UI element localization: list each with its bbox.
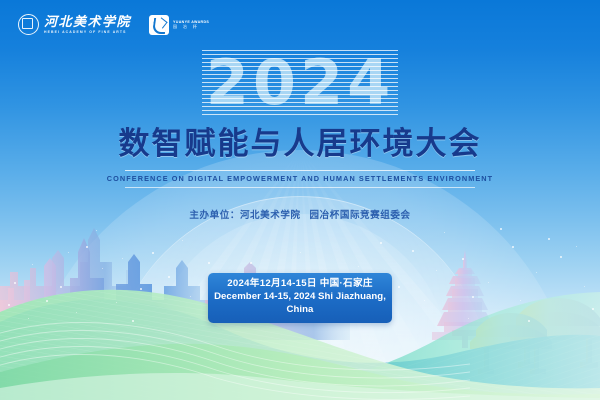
landscape-scene <box>0 0 600 400</box>
chinese-gate-silhouette <box>470 298 600 374</box>
light-ray-fan <box>0 0 600 400</box>
logo-yuanye-award[interactable]: YUANYE AWARDS 园 冶 杯 <box>149 15 209 35</box>
year-number: 2024 <box>206 52 395 114</box>
organizer-first: 河北美术学院 <box>240 210 301 221</box>
date-cn: 2024年12月14-15日 中国·石家庄 <box>208 278 392 291</box>
year-block: 2024 <box>0 52 600 114</box>
front-hill <box>0 344 600 400</box>
logo-hebei-academy[interactable]: 河北美术学院 HEBEI ACADEMY OF FINE ARTS <box>18 14 131 35</box>
date-en: December 14-15, 2024 Shi Jiazhuang, Chin… <box>208 291 392 317</box>
title-divider-bottom <box>125 187 475 188</box>
organizer-label: 主办单位： <box>189 210 240 221</box>
academy-seal-icon <box>18 14 39 35</box>
academy-name-cn: 河北美术学院 <box>44 15 131 28</box>
organizer-second: 园冶杯国际竞赛组委会 <box>310 210 411 221</box>
pagoda-silhouette <box>432 250 498 348</box>
page-subtitle: CONFERENCE ON DIGITAL EMPOWERMENT AND HU… <box>0 174 600 183</box>
date-location-badge: 2024年12月14-15日 中国·石家庄 December 14-15, 20… <box>208 273 392 323</box>
year-stripe-overlay <box>202 50 399 116</box>
organizer-line: 主办单位：河北美术学院园冶杯国际竞赛组委会 <box>0 207 600 221</box>
foreground-hill <box>0 373 600 400</box>
sparkle-stars <box>0 0 600 400</box>
yuanye-mark-icon <box>149 15 169 35</box>
page-title: 数智赋能与人居环境大会 <box>0 128 600 159</box>
academy-name-en: HEBEI ACADEMY OF FINE ARTS <box>44 31 131 34</box>
yuanye-name-cn: 园 冶 杯 <box>173 24 209 29</box>
header-logo-bar: 河北美术学院 HEBEI ACADEMY OF FINE ARTS YUANYE… <box>18 14 209 35</box>
wave-lines <box>0 323 470 400</box>
conference-poster: 河北美术学院 HEBEI ACADEMY OF FINE ARTS YUANYE… <box>0 0 600 400</box>
title-divider-top <box>125 170 475 171</box>
